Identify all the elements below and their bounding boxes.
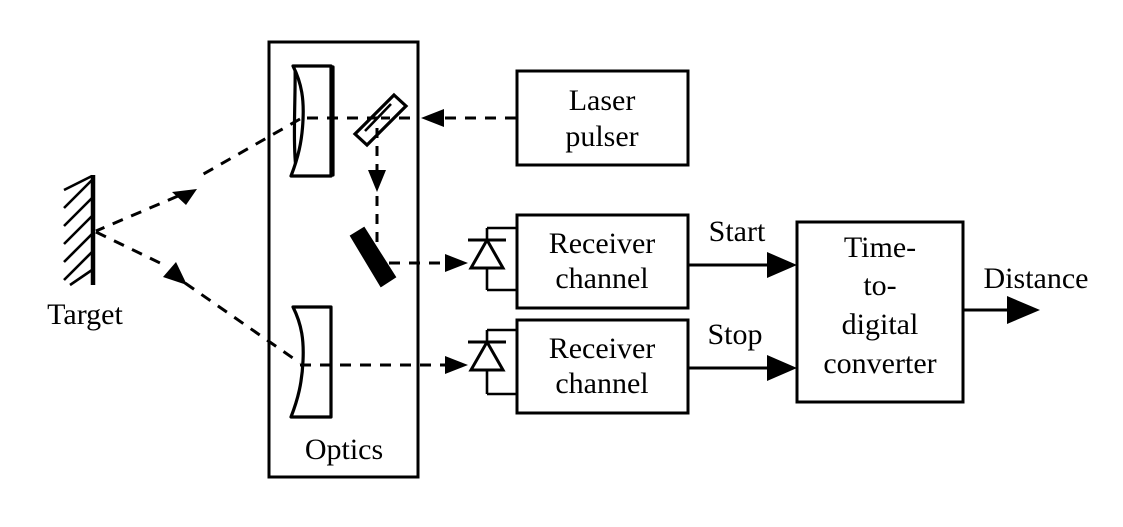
ray-arrowhead-right-stop [445, 356, 468, 374]
receiver-channel-start-block: Receiver channel [517, 215, 688, 308]
tdc-line-1: Time- [844, 231, 916, 264]
ray-arrowhead-right-start [445, 254, 468, 272]
ray-arrowhead-left [421, 109, 444, 127]
tdc-line-2: to- [863, 269, 896, 302]
photodiode-stop [468, 330, 517, 394]
stop-arrowhead [767, 355, 797, 381]
optics-label: Optics [305, 433, 383, 466]
distance-output-path [963, 296, 1040, 324]
target-label: Target [47, 298, 123, 331]
receiver-start-line-2: channel [555, 262, 648, 295]
receiver-stop-line-1: Receiver [549, 332, 656, 365]
start-label: Start [709, 215, 766, 248]
start-arrowhead [767, 252, 797, 278]
time-to-digital-converter-block: Time- to- digital converter [797, 222, 963, 402]
receiver-start-line-1: Receiver [549, 227, 656, 260]
rangefinder-diagram: Target Optics [0, 0, 1123, 527]
laser-pulser-line-1: Laser [569, 84, 636, 117]
stop-label: Stop [707, 318, 762, 351]
distance-label: Distance [984, 262, 1089, 295]
receiver-channel-stop-block: Receiver channel [517, 320, 688, 413]
diagram-canvas: Target Optics [0, 0, 1123, 527]
distance-arrowhead [1007, 296, 1040, 324]
receiver-stop-line-2: channel [555, 367, 648, 400]
target-surface [64, 175, 93, 285]
target-hatching [64, 176, 92, 285]
tdc-line-3: digital [842, 308, 919, 341]
start-signal-path [688, 252, 797, 278]
ray-arrowhead-to-receiver [163, 262, 187, 285]
laser-pulser-block: Laser pulser [517, 71, 688, 165]
photodiode-start [468, 228, 517, 290]
stop-signal-path [688, 355, 797, 381]
tdc-line-4: converter [823, 347, 936, 380]
laser-pulser-line-2: pulser [565, 120, 638, 153]
